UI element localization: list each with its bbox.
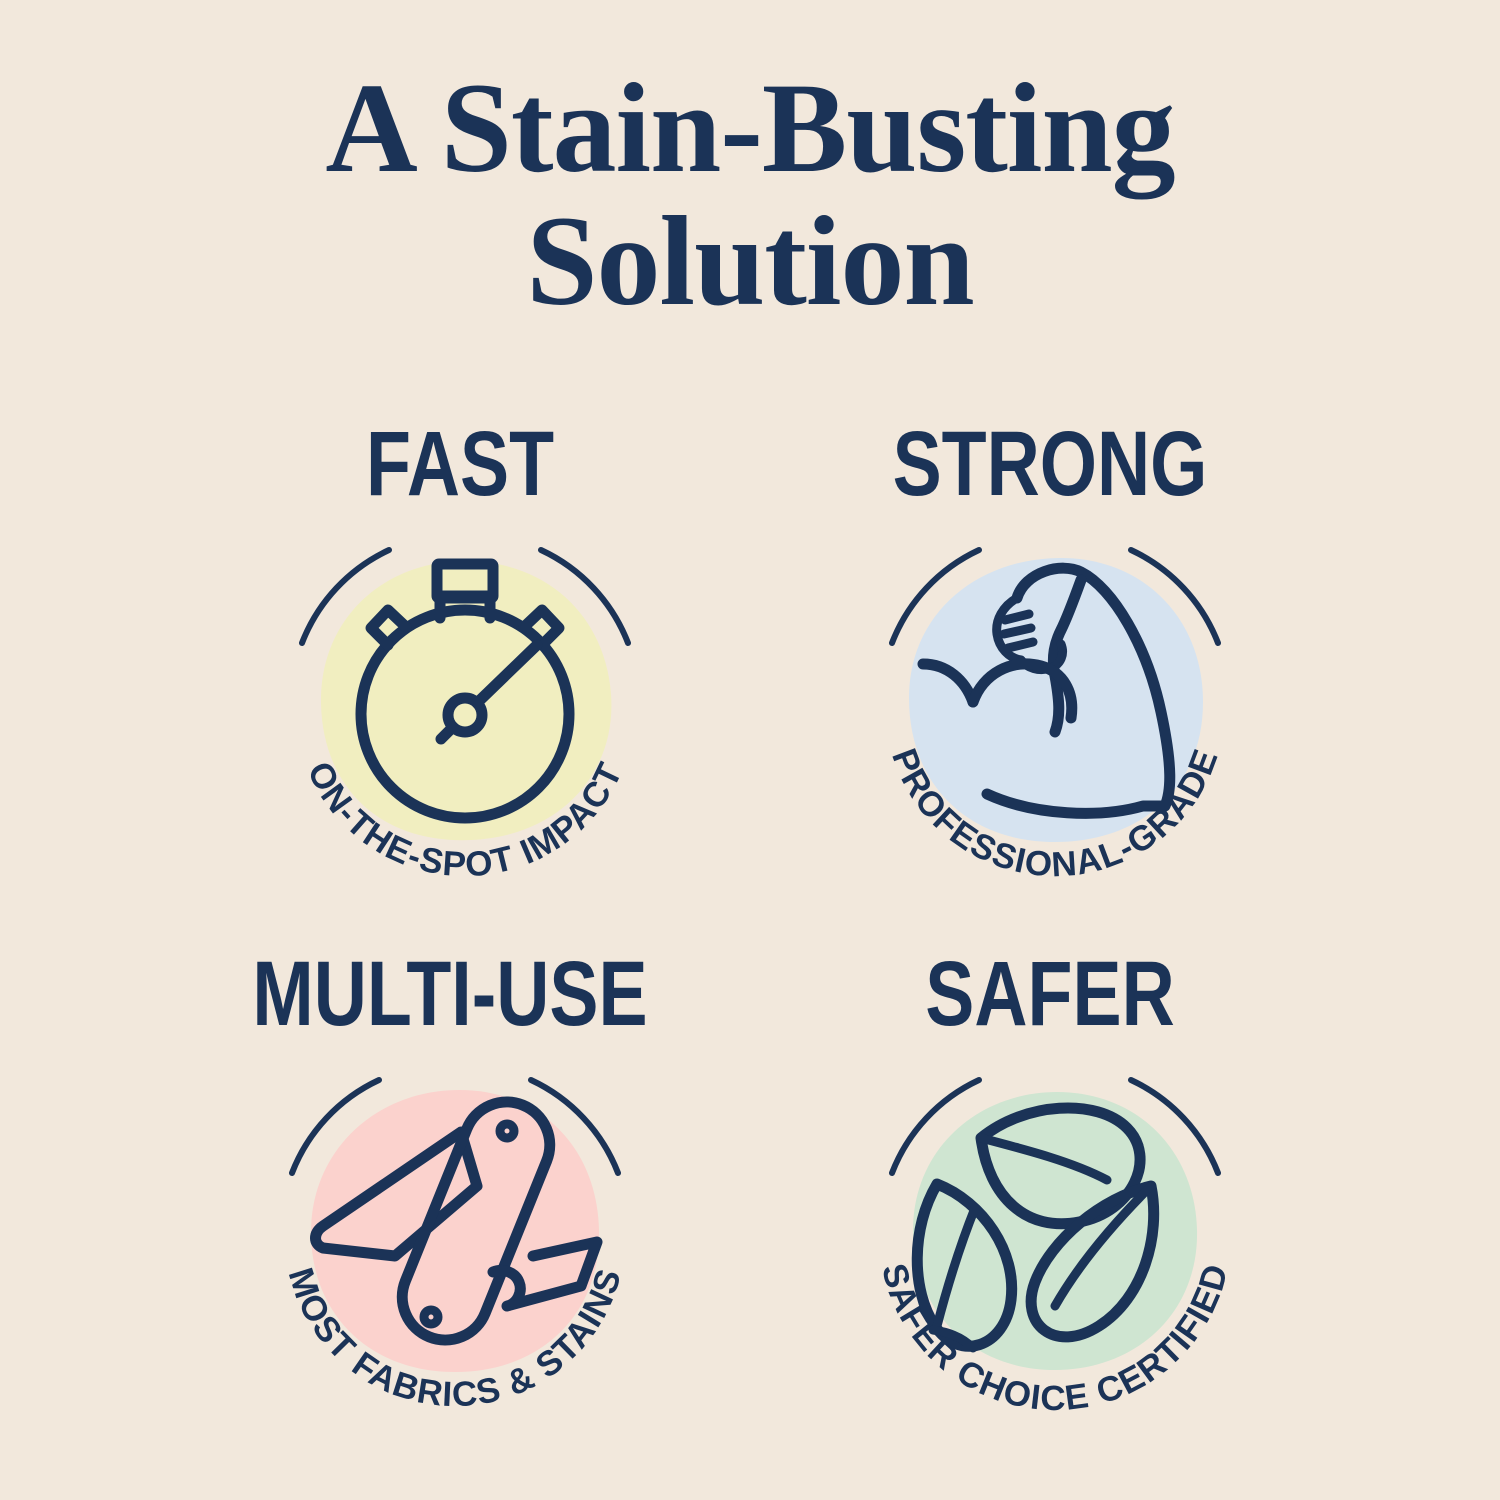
badge-mark-safer: SAFER CHOICE CERTIFIED bbox=[865, 1036, 1245, 1436]
badge-mark-fast: ON-THE-SPOT IMPACT bbox=[275, 506, 655, 906]
page-title-line-2: Solution bbox=[0, 195, 1500, 328]
feature-badge-strong: STRONG PROFESSIONAL-GRADE bbox=[730, 418, 1370, 938]
badge-heading-fast: FAST bbox=[204, 418, 716, 510]
badge-heading-multi-use: MULTI-USE bbox=[194, 948, 706, 1040]
badge-heading-strong: STRONG bbox=[794, 418, 1306, 510]
badge-mark-strong: PROFESSIONAL-GRADE bbox=[865, 506, 1245, 906]
feature-badge-grid: FAST ON-THE-SPOT IMPACT bbox=[0, 418, 1500, 1478]
badge-heading-safer: SAFER bbox=[794, 948, 1306, 1040]
infographic-page: A Stain-Busting Solution FAST bbox=[0, 0, 1500, 1500]
feature-badge-safer: SAFER SAFER CHOICE CERTIFIED bbox=[730, 948, 1370, 1468]
page-title-line-1: A Stain-Busting bbox=[0, 62, 1500, 195]
feature-badge-fast: FAST ON-THE-SPOT IMPACT bbox=[140, 418, 780, 938]
badge-mark-multi-use: MOST FABRICS & STAINS bbox=[265, 1036, 645, 1436]
page-title: A Stain-Busting Solution bbox=[0, 62, 1500, 328]
feature-badge-multi-use: MULTI-USE MOST FABRICS & STAINS bbox=[130, 948, 770, 1468]
